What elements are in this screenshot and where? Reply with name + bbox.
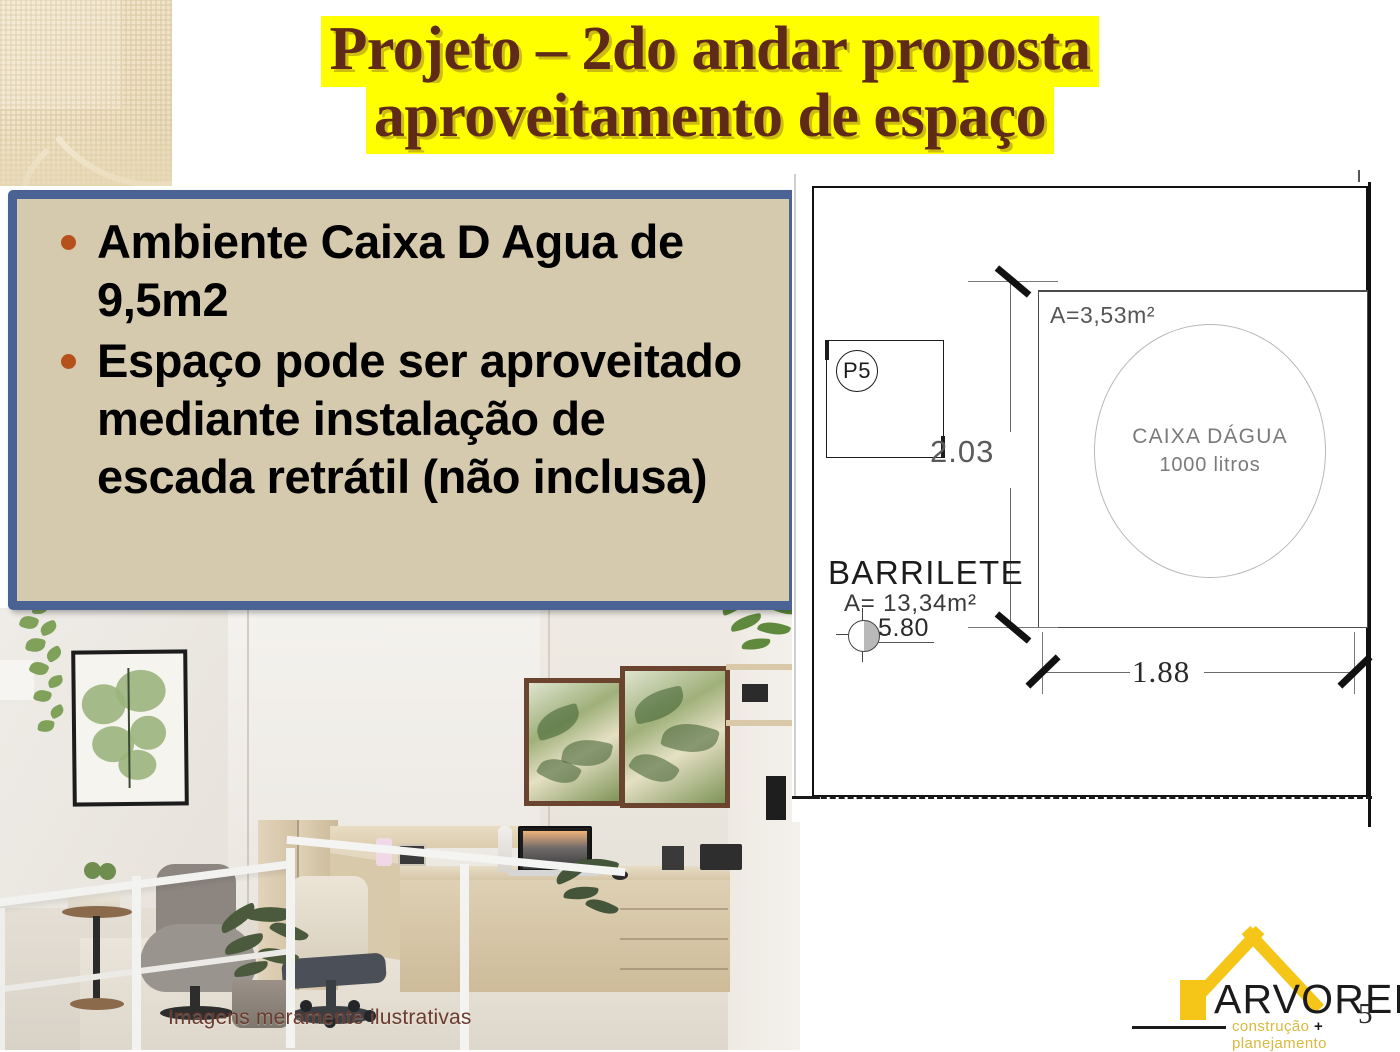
bullet-dot-icon bbox=[61, 235, 76, 250]
wall-panel-black bbox=[766, 776, 786, 820]
decorative-corner-graphic bbox=[0, 0, 172, 186]
logo-chimney-icon bbox=[1180, 980, 1206, 1020]
space-name-label: BARRILETE bbox=[828, 554, 1024, 592]
page-number: 5 bbox=[1358, 998, 1373, 1031]
desk-drawer-line-2 bbox=[620, 938, 728, 940]
floor-plan-drawing: P5 A=3,53m² CAIXA DÁGUA 1000 litros 2.03… bbox=[792, 162, 1400, 822]
dim-horizontal-line-left bbox=[1044, 672, 1130, 673]
framed-artwork-left bbox=[71, 649, 189, 806]
pillar-label-text: P5 bbox=[843, 358, 871, 384]
pillar-label-circle: P5 bbox=[836, 350, 878, 392]
logo-tagline-left: construção bbox=[1232, 1018, 1309, 1035]
desk-drawer-line-3 bbox=[620, 968, 728, 970]
list-item: Ambiente Caixa D Agua de 9,5m2 bbox=[35, 213, 769, 330]
plan-dashed-section-line bbox=[794, 796, 1372, 799]
dim-extension-right bbox=[1354, 632, 1355, 694]
interior-render-photo bbox=[0, 608, 800, 1050]
list-item: Espaço pode ser aproveitado mediante ins… bbox=[35, 332, 769, 507]
title-line-1: Projeto – 2do andar proposta bbox=[321, 16, 1098, 87]
side-table-base bbox=[70, 998, 124, 1010]
bullet-text: Espaço pode ser aproveitado mediante ins… bbox=[97, 334, 742, 504]
bullet-list: Ambiente Caixa D Agua de 9,5m2 Espaço po… bbox=[35, 213, 769, 506]
desk-printer bbox=[700, 844, 742, 870]
railing-post-1 bbox=[0, 908, 5, 1050]
water-tank-name: CAIXA DÁGUA bbox=[1132, 423, 1288, 451]
desk-drawer-line-1 bbox=[620, 908, 728, 910]
photo-disclaimer-caption: Imagens meramente ilustrativas bbox=[168, 1006, 472, 1030]
dim-horizontal-value: 1.88 bbox=[1132, 654, 1190, 690]
title-line-2-text: aproveitamento de espaço bbox=[366, 83, 1054, 154]
slide-title: Projeto – 2do andar proposta aproveitame… bbox=[150, 16, 1270, 154]
deco-shade bbox=[0, 124, 172, 186]
bullet-text: Ambiente Caixa D Agua de 9,5m2 bbox=[97, 215, 684, 326]
room-area-label: A=3,53m² bbox=[1050, 302, 1155, 329]
wall-shelf-right-lower bbox=[726, 720, 800, 726]
water-tank-capacity: 1000 litros bbox=[1159, 452, 1260, 479]
framed-artwork-tropical-2 bbox=[620, 666, 730, 808]
logo-tagline-plus: + bbox=[1314, 1018, 1323, 1035]
shelf-box bbox=[742, 684, 768, 702]
logo-tagline-right: planejamento bbox=[1232, 1035, 1327, 1052]
decor-spheres bbox=[84, 862, 116, 880]
company-logo: ARVOREDO construção + planejamento bbox=[1148, 918, 1380, 1030]
plan-tick-top-right bbox=[1358, 170, 1360, 182]
logo-rule bbox=[1132, 1026, 1226, 1029]
pillar-nub-left bbox=[825, 340, 829, 360]
title-line-1-text: Projeto – 2do andar proposta bbox=[321, 16, 1098, 87]
plan-right-border bbox=[1368, 182, 1371, 827]
pencil-cup bbox=[662, 846, 684, 870]
level-marker-value: 5.80 bbox=[878, 614, 929, 643]
level-marker-icon bbox=[848, 620, 880, 652]
framed-artwork-tropical-1 bbox=[524, 678, 624, 806]
dim-horizontal-line-right bbox=[1204, 672, 1354, 673]
bullet-dot-icon bbox=[61, 354, 76, 369]
plan-guide-line-left bbox=[794, 174, 796, 798]
dim-vertical-value: 2.03 bbox=[930, 434, 994, 470]
dim-extension-left bbox=[1042, 632, 1043, 694]
fern-plant-icon bbox=[712, 608, 800, 682]
wall-corner-line bbox=[247, 608, 249, 938]
bullet-text-box: Ambiente Caixa D Agua de 9,5m2 Espaço po… bbox=[8, 190, 798, 610]
water-tank-room-top-line bbox=[1038, 290, 1368, 292]
railing-post-2 bbox=[132, 876, 141, 1050]
side-table-post bbox=[93, 916, 100, 1002]
dim-vertical-text-gap bbox=[1004, 432, 1018, 488]
level-marker-underline bbox=[878, 642, 934, 643]
water-tank-circle: CAIXA DÁGUA 1000 litros bbox=[1094, 324, 1326, 578]
title-line-2: aproveitamento de espaço bbox=[366, 83, 1054, 154]
